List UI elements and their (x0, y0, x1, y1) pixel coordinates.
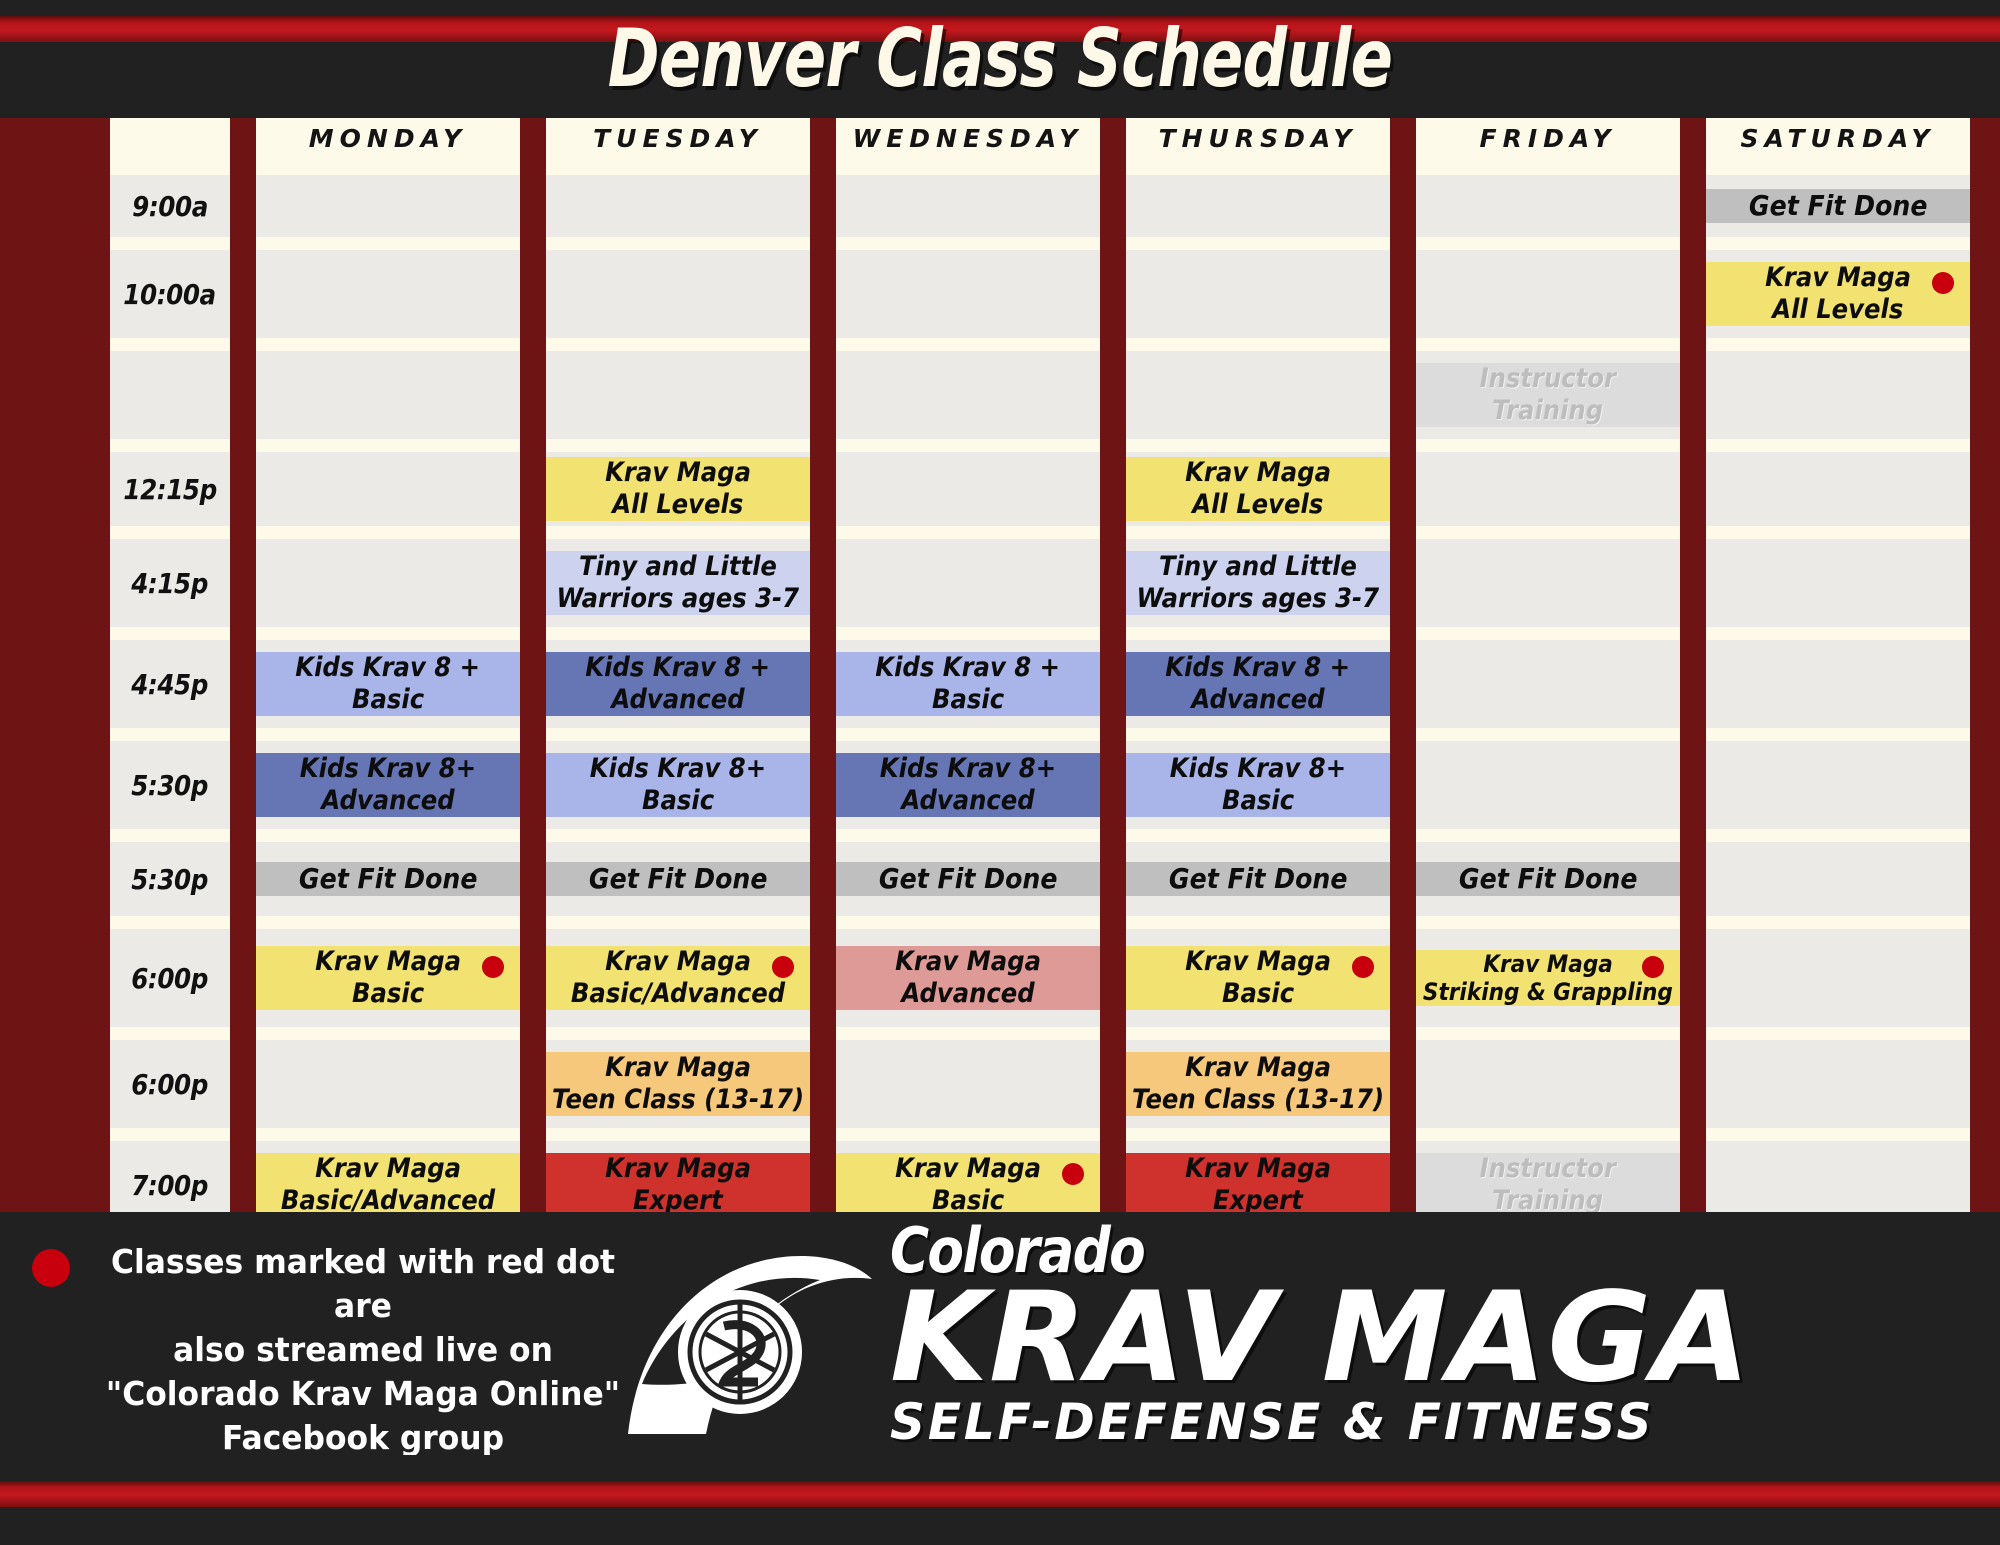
schedule-row: 5:30pKids Krav 8+AdvancedKids Krav 8+Bas… (110, 741, 1970, 829)
class-label: Krav Maga (1185, 1153, 1331, 1185)
schedule-cell[interactable]: Kids Krav 8 +Advanced (1126, 640, 1390, 728)
class-block[interactable]: Krav MagaBasic/Advanced (256, 1153, 520, 1217)
day-header-tuesday: TUESDAY (546, 118, 810, 162)
class-block[interactable]: Krav MagaExpert (1126, 1153, 1390, 1217)
red-dot-icon (32, 1249, 70, 1287)
class-block[interactable]: Kids Krav 8+Advanced (256, 753, 520, 817)
schedule-table: MONDAYTUESDAYWEDNESDAYTHURSDAYFRIDAYSATU… (110, 118, 1970, 1343)
class-label: Advanced (901, 785, 1034, 817)
header-gap (230, 118, 256, 162)
schedule-cell[interactable]: Krav MagaAll Levels (546, 452, 810, 526)
cell-gap (1390, 929, 1416, 1027)
time-label: 6:00p (110, 929, 230, 1027)
live-stream-dot-icon (1932, 272, 1954, 294)
cell-gap (1390, 539, 1416, 627)
schedule-cell (1416, 640, 1680, 728)
schedule-cell (1126, 351, 1390, 439)
class-label: Krav Maga (1765, 262, 1911, 294)
live-stream-dot-icon (772, 956, 794, 978)
cell-gap (520, 452, 546, 526)
class-label: Tiny and Little (1159, 551, 1357, 583)
class-label: Kids Krav 8 + (586, 652, 771, 684)
header-gap (1100, 118, 1126, 162)
schedule-cell (1706, 351, 1970, 439)
cell-gap (810, 539, 836, 627)
schedule-row: 12:15pKrav MagaAll LevelsKrav MagaAll Le… (110, 452, 1970, 526)
cell-gap (230, 842, 256, 916)
cell-gap (810, 741, 836, 829)
cell-gap (1100, 929, 1126, 1027)
schedule-cell[interactable]: Get Fit Done (836, 842, 1100, 916)
cell-gap (1100, 250, 1126, 338)
cell-gap (230, 250, 256, 338)
class-block[interactable]: Get Fit Done (836, 862, 1100, 895)
class-label: Krav Maga (895, 946, 1041, 978)
schedule-cell (1706, 539, 1970, 627)
cell-gap (230, 929, 256, 1027)
class-label: Advanced (1191, 684, 1324, 716)
class-label: Advanced (901, 978, 1034, 1010)
class-label: Advanced (611, 684, 744, 716)
class-block[interactable]: Tiny and LittleWarriors ages 3-7 (1126, 551, 1390, 615)
cell-gap (1100, 175, 1126, 237)
schedule-row: InstructorTraining (110, 351, 1970, 439)
schedule-cell (546, 250, 810, 338)
class-label: Get Fit Done (1749, 189, 1928, 222)
class-label: Kids Krav 8+ (590, 753, 766, 785)
schedule-cell (1706, 929, 1970, 1027)
time-label: 6:00p (110, 1040, 230, 1128)
schedule-grid: MONDAYTUESDAYWEDNESDAYTHURSDAYFRIDAYSATU… (0, 118, 2000, 1212)
time-label: 9:00a (110, 175, 230, 237)
class-label: All Levels (1192, 489, 1323, 521)
row-gutter (110, 237, 1970, 250)
logo-wordmark: Colorado KRAV MAGA SELF-DEFENSE & FITNES… (890, 1218, 2000, 1450)
class-block[interactable]: Kids Krav 8 +Basic (836, 652, 1100, 716)
header-gap (1680, 118, 1706, 162)
cell-gap (1680, 842, 1706, 916)
schedule-cell[interactable]: Tiny and LittleWarriors ages 3-7 (546, 539, 810, 627)
header-gap (1390, 118, 1416, 162)
class-block[interactable]: Krav MagaTeen Class (13-17) (546, 1052, 810, 1116)
cell-gap (1680, 175, 1706, 237)
schedule-cell[interactable]: Krav MagaAll Levels (1706, 250, 1970, 338)
class-label: Get Fit Done (299, 862, 478, 895)
cell-gap (810, 842, 836, 916)
cell-gap (1390, 842, 1416, 916)
day-header-saturday: SATURDAY (1706, 118, 1970, 162)
cell-gap (1680, 640, 1706, 728)
row-gutter (110, 439, 1970, 452)
schedule-cell[interactable]: Krav MagaBasic (1126, 929, 1390, 1027)
legend-text: Classes marked with red dot are also str… (92, 1240, 634, 1460)
class-label: Instructor (1480, 363, 1616, 395)
class-label: Instructor (1480, 1153, 1616, 1185)
cell-gap (1680, 250, 1706, 338)
class-block[interactable]: Krav MagaAll Levels (1126, 457, 1390, 521)
cell-gap (520, 741, 546, 829)
cell-gap (1100, 539, 1126, 627)
schedule-cell (1416, 175, 1680, 237)
row-gutter (110, 627, 1970, 640)
cell-gap (1680, 539, 1706, 627)
class-label: Basic (642, 785, 714, 817)
schedule-cell[interactable]: Krav MagaAdvanced (836, 929, 1100, 1027)
cell-gap (810, 1040, 836, 1128)
live-stream-dot-icon (1352, 956, 1374, 978)
time-label (110, 351, 230, 439)
class-label: Basic (1222, 785, 1294, 817)
schedule-cell (1416, 250, 1680, 338)
schedule-row: 4:15pTiny and LittleWarriors ages 3-7Tin… (110, 539, 1970, 627)
cell-gap (1680, 1040, 1706, 1128)
time-label: 12:15p (110, 452, 230, 526)
class-block[interactable]: InstructorTraining (1416, 1153, 1680, 1217)
class-label: Krav Maga (605, 1052, 751, 1084)
schedule-cell[interactable]: Krav MagaBasic/Advanced (546, 929, 810, 1027)
schedule-cell (1416, 1040, 1680, 1128)
class-label: Get Fit Done (1459, 862, 1638, 895)
bottom-red-stripe (0, 1481, 2000, 1507)
class-block[interactable]: Get Fit Done (546, 862, 810, 895)
schedule-cell[interactable]: Get Fit Done (1416, 842, 1680, 916)
class-block[interactable]: Kids Krav 8+Basic (546, 753, 810, 817)
time-label: 4:15p (110, 539, 230, 627)
schedule-cell (1706, 842, 1970, 916)
schedule-cell (836, 539, 1100, 627)
schedule-cell[interactable]: Kids Krav 8+Advanced (256, 741, 520, 829)
schedule-cell (836, 175, 1100, 237)
class-label: Krav Maga (605, 946, 751, 978)
cell-gap (1680, 351, 1706, 439)
time-label: 10:00a (110, 250, 230, 338)
cell-gap (1680, 452, 1706, 526)
class-block[interactable]: Kids Krav 8+Advanced (836, 753, 1100, 817)
cell-gap (1100, 1040, 1126, 1128)
class-label: Get Fit Done (1169, 862, 1348, 895)
class-label: Basic (1222, 978, 1294, 1010)
time-label: 5:30p (110, 842, 230, 916)
class-label: Basic (932, 684, 1004, 716)
schedule-cell[interactable]: Krav MagaStriking & Grappling (1416, 929, 1680, 1027)
brand-logo: Colorado KRAV MAGA SELF-DEFENSE & FITNES… (600, 1212, 2000, 1457)
day-header-friday: FRIDAY (1416, 118, 1680, 162)
class-label: Krav Maga (1483, 950, 1613, 978)
class-label: Krav Maga (315, 1153, 461, 1185)
class-block[interactable]: Krav MagaBasic (256, 946, 520, 1010)
class-label: Krav Maga (1185, 457, 1331, 489)
schedule-cell[interactable]: Kids Krav 8+Basic (1126, 741, 1390, 829)
class-label: Teen Class (13-17) (1132, 1084, 1384, 1116)
class-label: Teen Class (13-17) (552, 1084, 804, 1116)
schedule-row: 5:30pGet Fit DoneGet Fit DoneGet Fit Don… (110, 842, 1970, 916)
class-block[interactable]: Krav MagaAll Levels (546, 457, 810, 521)
live-stream-dot-icon (1642, 956, 1664, 978)
footer: Classes marked with red dot are also str… (0, 1212, 2000, 1457)
row-gutter (110, 162, 1970, 175)
cell-gap (230, 452, 256, 526)
cell-gap (1100, 351, 1126, 439)
class-block[interactable]: Krav MagaTeen Class (13-17) (1126, 1052, 1390, 1116)
class-block[interactable]: Get Fit Done (256, 862, 520, 895)
schedule-cell (1126, 250, 1390, 338)
schedule-cell[interactable]: Get Fit Done (546, 842, 810, 916)
schedule-cell[interactable]: InstructorTraining (1416, 351, 1680, 439)
class-label: Get Fit Done (879, 862, 1058, 895)
class-label: Krav Maga (315, 946, 461, 978)
row-gutter (110, 526, 1970, 539)
cell-gap (230, 741, 256, 829)
cell-gap (230, 539, 256, 627)
cell-gap (1390, 452, 1416, 526)
class-label: Krav Maga (1185, 946, 1331, 978)
legend: Classes marked with red dot are also str… (14, 1240, 654, 1460)
class-label: Advanced (321, 785, 454, 817)
live-stream-dot-icon (482, 956, 504, 978)
schedule-cell (836, 250, 1100, 338)
cell-gap (230, 640, 256, 728)
class-label: Kids Krav 8+ (880, 753, 1056, 785)
cell-gap (520, 640, 546, 728)
row-gutter (110, 916, 1970, 929)
cell-gap (1100, 741, 1126, 829)
class-block[interactable]: Krav MagaBasic/Advanced (546, 946, 810, 1010)
schedule-cell (836, 351, 1100, 439)
class-label: Krav Maga (1185, 1052, 1331, 1084)
day-header-thursday: THURSDAY (1126, 118, 1390, 162)
class-block[interactable]: Krav MagaBasic (836, 1153, 1100, 1217)
class-label: Kids Krav 8 + (876, 652, 1061, 684)
class-label: Kids Krav 8+ (1170, 753, 1346, 785)
day-header-monday: MONDAY (256, 118, 520, 162)
schedule-cell (256, 250, 520, 338)
eye-emblem-icon (620, 1234, 890, 1444)
class-block[interactable]: Kids Krav 8 +Advanced (546, 652, 810, 716)
cell-gap (520, 175, 546, 237)
schedule-cell (1416, 539, 1680, 627)
schedule-cell (1706, 452, 1970, 526)
schedule-cell (1706, 741, 1970, 829)
schedule-cell (1126, 175, 1390, 237)
header-gap (810, 118, 836, 162)
cell-gap (810, 351, 836, 439)
cell-gap (520, 1040, 546, 1128)
cell-gap (230, 351, 256, 439)
cell-gap (810, 929, 836, 1027)
row-gutter (110, 338, 1970, 351)
schedule-cell (1416, 452, 1680, 526)
live-stream-dot-icon (1062, 1163, 1084, 1185)
row-gutter (110, 1027, 1970, 1040)
class-block[interactable]: Kids Krav 8+Basic (1126, 753, 1390, 817)
class-label: Kids Krav 8 + (1166, 652, 1351, 684)
cell-gap (1680, 741, 1706, 829)
cell-gap (1390, 1040, 1416, 1128)
class-label: Krav Maga (895, 1153, 1041, 1185)
schedule-cell (256, 1040, 520, 1128)
schedule-cell[interactable]: Kids Krav 8+Advanced (836, 741, 1100, 829)
class-label: Warriors ages 3-7 (1137, 583, 1380, 615)
cell-gap (1680, 929, 1706, 1027)
schedule-cell (546, 351, 810, 439)
cell-gap (810, 640, 836, 728)
schedule-cell[interactable]: Get Fit Done (1126, 842, 1390, 916)
schedule-cell[interactable]: Krav MagaTeen Class (13-17) (546, 1040, 810, 1128)
class-block[interactable]: Get Fit Done (1706, 189, 1970, 222)
cell-gap (1390, 175, 1416, 237)
class-block[interactable]: InstructorTraining (1416, 363, 1680, 427)
cell-gap (1100, 640, 1126, 728)
class-block[interactable]: Get Fit Done (1126, 862, 1390, 895)
schedule-cell[interactable]: Kids Krav 8 +Advanced (546, 640, 810, 728)
schedule-row: 6:00pKrav MagaTeen Class (13-17)Krav Mag… (110, 1040, 1970, 1128)
cell-gap (520, 539, 546, 627)
class-block[interactable]: Kids Krav 8 +Basic (256, 652, 520, 716)
logo-krav-maga: KRAV MAGA (890, 1282, 2000, 1394)
cell-gap (810, 175, 836, 237)
cell-gap (1390, 250, 1416, 338)
class-label: Krav Maga (605, 457, 751, 489)
schedule-cell (256, 175, 520, 237)
cell-gap (520, 842, 546, 916)
cell-gap (230, 1040, 256, 1128)
cell-gap (520, 351, 546, 439)
cell-gap (230, 175, 256, 237)
cell-gap (810, 250, 836, 338)
schedule-cell (836, 452, 1100, 526)
cell-gap (1390, 640, 1416, 728)
row-gutter (110, 829, 1970, 842)
schedule-cell[interactable]: Kids Krav 8+Basic (546, 741, 810, 829)
schedule-corner (110, 118, 230, 162)
schedule-cell[interactable]: Get Fit Done (1706, 175, 1970, 237)
bottom-banner (0, 1455, 2000, 1545)
cell-gap (1100, 452, 1126, 526)
schedule-cell[interactable]: Krav MagaBasic (256, 929, 520, 1027)
schedule-row: 6:00pKrav MagaBasicKrav MagaBasic/Advanc… (110, 929, 1970, 1027)
logo-tagline: SELF-DEFENSE & FITNESS (890, 1394, 1976, 1450)
schedule-cell[interactable]: Krav MagaTeen Class (13-17) (1126, 1040, 1390, 1128)
class-block[interactable]: Krav MagaStriking & Grappling (1416, 950, 1680, 1007)
schedule-cell (256, 351, 520, 439)
schedule-cell (1706, 1040, 1970, 1128)
schedule-row: 4:45pKids Krav 8 +BasicKids Krav 8 +Adva… (110, 640, 1970, 728)
schedule-cell[interactable]: Get Fit Done (256, 842, 520, 916)
schedule-cell (1706, 640, 1970, 728)
cell-gap (520, 929, 546, 1027)
schedule-cell (256, 452, 520, 526)
class-block[interactable]: Krav MagaExpert (546, 1153, 810, 1217)
time-label: 4:45p (110, 640, 230, 728)
class-label: Training (1493, 395, 1604, 427)
cell-gap (520, 250, 546, 338)
class-label: Tiny and Little (579, 551, 777, 583)
class-label: Basic (352, 978, 424, 1010)
class-block[interactable]: Krav MagaAll Levels (1706, 262, 1970, 326)
schedule-cell (256, 539, 520, 627)
schedule-cell[interactable]: Krav MagaAll Levels (1126, 452, 1390, 526)
class-label: Warriors ages 3-7 (557, 583, 800, 615)
class-label: All Levels (1772, 294, 1903, 326)
class-label: Kids Krav 8+ (300, 753, 476, 785)
cell-gap (1390, 741, 1416, 829)
class-label: Get Fit Done (589, 862, 768, 895)
header-gap (520, 118, 546, 162)
schedule-frame: MONDAYTUESDAYWEDNESDAYTHURSDAYFRIDAYSATU… (0, 118, 2000, 1212)
schedule-cell (836, 1040, 1100, 1128)
schedule-cell[interactable]: Tiny and LittleWarriors ages 3-7 (1126, 539, 1390, 627)
row-gutter (110, 1128, 1970, 1141)
schedule-cell (1416, 741, 1680, 829)
schedule-cell (546, 175, 810, 237)
day-header-wednesday: WEDNESDAY (836, 118, 1100, 162)
schedule-cell[interactable]: Kids Krav 8 +Basic (836, 640, 1100, 728)
schedule-row: 10:00aKrav MagaAll Levels (110, 250, 1970, 338)
cell-gap (810, 452, 836, 526)
class-block[interactable]: Krav MagaBasic (1126, 946, 1390, 1010)
class-label: Kids Krav 8 + (296, 652, 481, 684)
class-block[interactable]: Krav MagaAdvanced (836, 946, 1100, 1010)
schedule-row: 9:00aGet Fit Done (110, 175, 1970, 237)
class-label: All Levels (612, 489, 743, 521)
cell-gap (1100, 842, 1126, 916)
schedule-cell[interactable]: Kids Krav 8 +Basic (256, 640, 520, 728)
page-title: Denver Class Schedule (220, 12, 1780, 105)
class-label: Striking & Grappling (1423, 978, 1673, 1006)
class-block[interactable]: Get Fit Done (1416, 862, 1680, 895)
time-label: 5:30p (110, 741, 230, 829)
row-gutter (110, 728, 1970, 741)
cell-gap (1390, 351, 1416, 439)
class-label: Basic/Advanced (571, 978, 785, 1010)
class-label: Basic (352, 684, 424, 716)
top-banner: Denver Class Schedule (0, 0, 2000, 118)
class-block[interactable]: Kids Krav 8 +Advanced (1126, 652, 1390, 716)
class-label: Krav Maga (605, 1153, 751, 1185)
class-block[interactable]: Tiny and LittleWarriors ages 3-7 (546, 551, 810, 615)
